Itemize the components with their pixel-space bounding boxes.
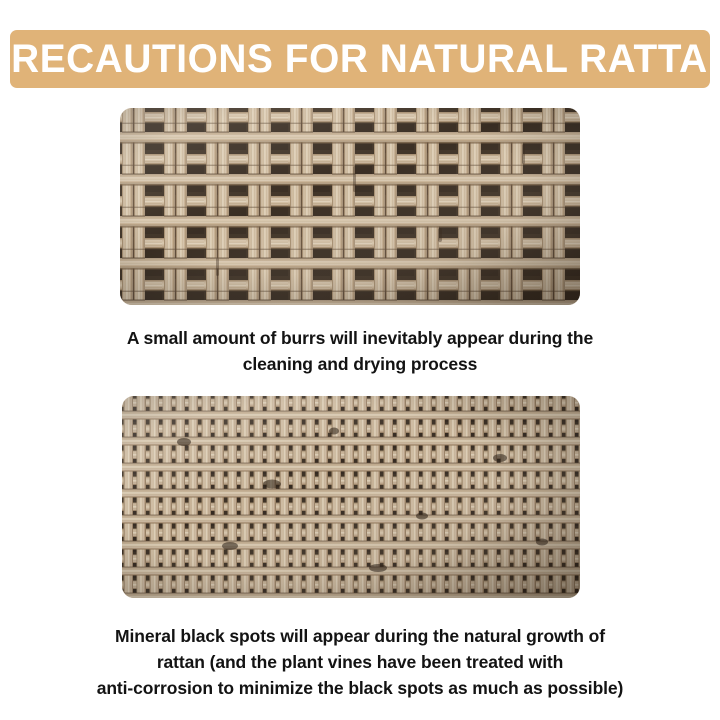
- caption-line: Mineral black spots will appear during t…: [36, 623, 684, 649]
- caption-burrs: A small amount of burrs will inevitably …: [36, 325, 684, 377]
- dense-weave-graphic: [122, 396, 580, 598]
- caption-black-spots: Mineral black spots will appear during t…: [36, 623, 684, 701]
- caption-line: anti-corrosion to minimize the black spo…: [36, 675, 684, 701]
- caption-line: rattan (and the plant vines have been tr…: [36, 649, 684, 675]
- rattan-dense-weave-photo: [122, 396, 580, 598]
- caption-line: A small amount of burrs will inevitably …: [36, 325, 684, 351]
- open-weave-graphic: [120, 108, 580, 305]
- caption-line: cleaning and drying process: [36, 351, 684, 377]
- precautions-infographic: PRECAUTIONS FOR NATURAL RATTAN: [0, 0, 720, 720]
- page-title: PRECAUTIONS FOR NATURAL RATTAN: [10, 39, 710, 79]
- header-banner: PRECAUTIONS FOR NATURAL RATTAN: [10, 30, 710, 88]
- rattan-open-weave-photo: [120, 108, 580, 305]
